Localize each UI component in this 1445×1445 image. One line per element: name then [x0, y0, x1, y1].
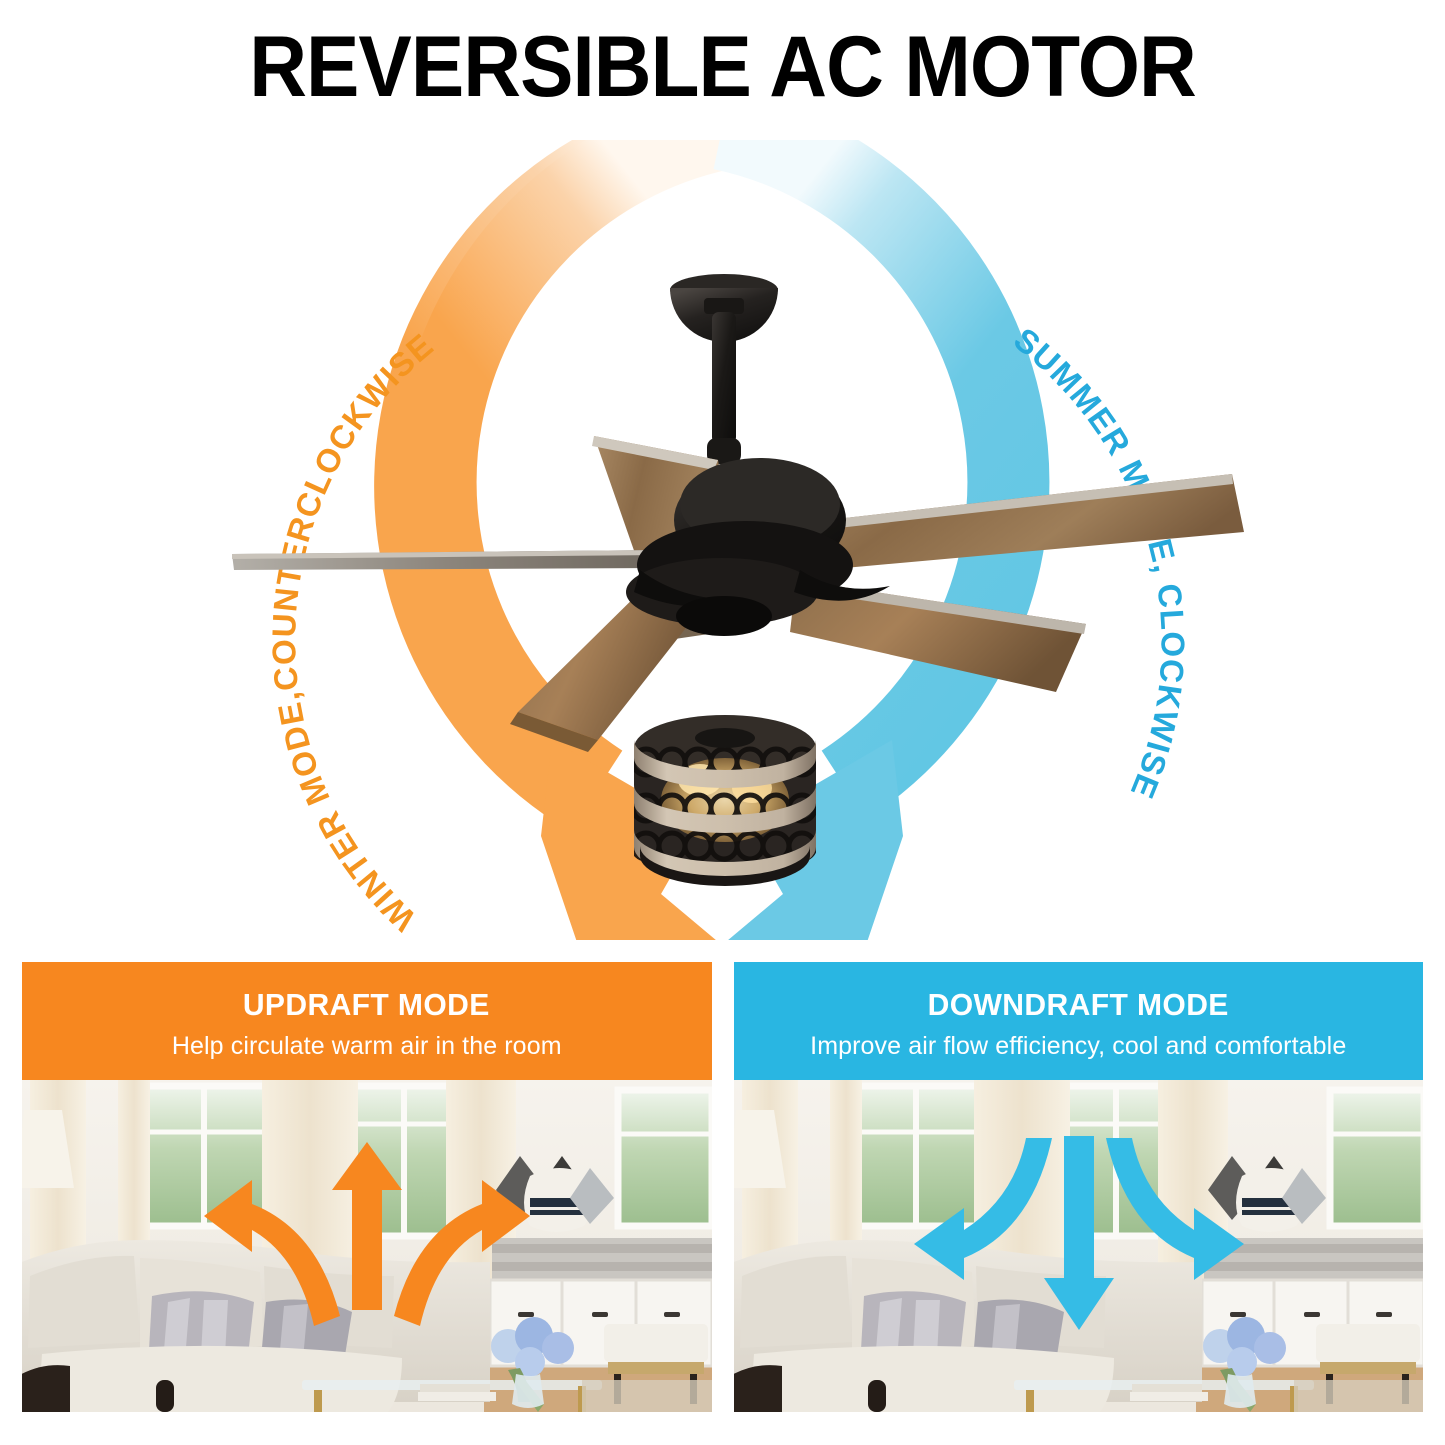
updraft-airflow-arrows: [22, 1080, 712, 1412]
hero-diagram: WINTER MODE,COUNTERCLOCKWISE SUMMER MODE…: [0, 140, 1445, 940]
mode-panels: UPDRAFT MODE Help circulate warm air in …: [22, 962, 1423, 1412]
panel-downdraft-photo: [734, 1080, 1424, 1412]
panel-updraft-photo: [22, 1080, 712, 1412]
panel-updraft-title: UPDRAFT MODE: [243, 987, 490, 1023]
fan-blade-left-edge: [232, 550, 662, 570]
fan-blade-right-upper: [792, 474, 1244, 572]
fan-light-kit: [633, 715, 816, 886]
arrow-down-right: [1106, 1138, 1244, 1280]
arrow-down-left: [914, 1138, 1052, 1280]
fan-downrod-and-canopy: [670, 274, 778, 464]
panel-downdraft-header: DOWNDRAFT MODE Improve air flow efficien…: [734, 962, 1424, 1080]
infographic-root: REVERSIBLE AC MOTOR: [0, 0, 1445, 1445]
page-title: REVERSIBLE AC MOTOR: [51, 18, 1395, 117]
arrow-up-center: [332, 1142, 402, 1310]
ceiling-fan-product-image: [0, 140, 1445, 940]
arrow-down-center: [1044, 1136, 1114, 1330]
panel-downdraft-title: DOWNDRAFT MODE: [928, 987, 1229, 1023]
downdraft-airflow-arrows: [734, 1080, 1424, 1412]
panel-downdraft[interactable]: DOWNDRAFT MODE Improve air flow efficien…: [734, 962, 1424, 1412]
panel-updraft-header: UPDRAFT MODE Help circulate warm air in …: [22, 962, 712, 1080]
panel-updraft[interactable]: UPDRAFT MODE Help circulate warm air in …: [22, 962, 712, 1412]
panel-updraft-subtitle: Help circulate warm air in the room: [172, 1032, 562, 1061]
panel-downdraft-subtitle: Improve air flow efficiency, cool and co…: [810, 1032, 1346, 1061]
